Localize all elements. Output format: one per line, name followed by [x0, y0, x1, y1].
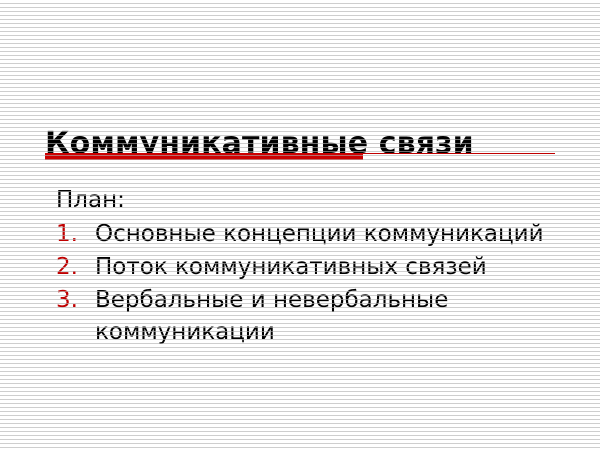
list-item: 1. Основные концепции коммуникаций: [56, 218, 566, 250]
plan-label: План:: [56, 185, 566, 215]
slide-body: План: 1. Основные концепции коммуникаций…: [56, 185, 566, 349]
list-item: 3. Вербальные и невербальные коммуникаци…: [56, 284, 566, 348]
list-item: 2. Поток коммуникативных связей: [56, 251, 566, 283]
list-item-number: 1.: [56, 218, 95, 250]
list-item-number: 3.: [56, 284, 95, 316]
title-divider-thick-bar: [45, 153, 363, 160]
list-item-number: 2.: [56, 251, 95, 283]
list-item-text: Основные концепции коммуникаций: [95, 218, 555, 250]
list-item-text: Вербальные и невербальные коммуникации: [95, 284, 555, 348]
presentation-slide: Коммуникативные связи План: 1. Основные …: [0, 0, 600, 450]
list-item-text: Поток коммуникативных связей: [95, 251, 555, 283]
agenda-list: 1. Основные концепции коммуникаций 2. По…: [56, 218, 566, 348]
